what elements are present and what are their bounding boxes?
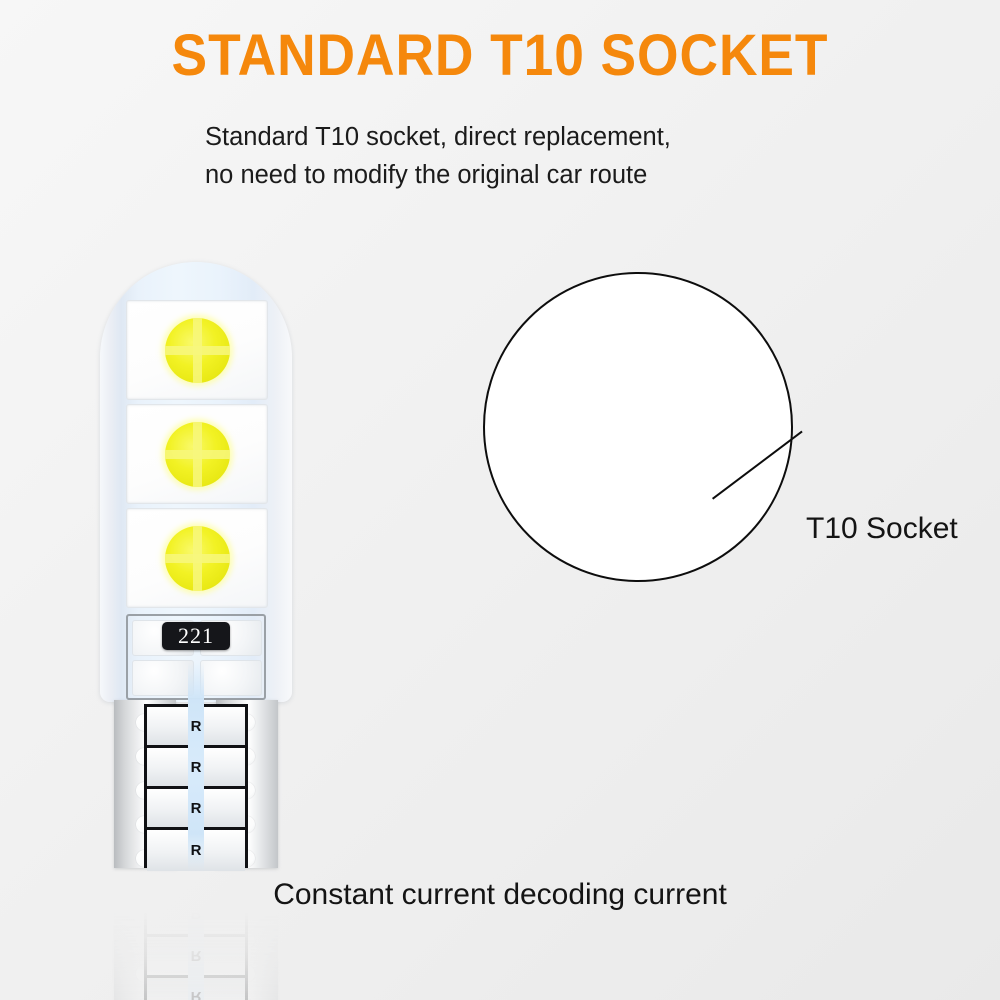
resistor-cell-label: R <box>191 800 202 817</box>
led-lead <box>131 441 137 446</box>
socket-contact-dot <box>136 965 153 982</box>
subtitle-block: Standard T10 socket, direct replacement,… <box>205 118 845 194</box>
magnifier-inset-content <box>485 274 791 580</box>
led-lead-column <box>257 515 263 601</box>
resistor-cell: R <box>147 975 245 1000</box>
magnifier-inset <box>483 272 793 582</box>
led-phosphor <box>165 318 230 383</box>
socket-contact-dot <box>238 965 255 982</box>
resistor-cell-label: R <box>191 989 202 1000</box>
led-lead <box>257 523 263 528</box>
resistor-cell-label: R <box>191 842 202 859</box>
led-lead <box>131 380 137 385</box>
subtitle-line-2: no need to modify the original car route <box>205 156 845 194</box>
resistor-cell-label: R <box>191 759 202 776</box>
vertical-bulb-view: 221RRRR <box>86 262 306 882</box>
led-lead-column <box>131 307 137 393</box>
led-lead <box>257 380 263 385</box>
page-title: STANDARD T10 SOCKET <box>40 22 960 89</box>
led-lead <box>131 337 137 342</box>
led-lead <box>131 315 137 320</box>
resistor-cell-label: R <box>191 948 202 965</box>
led-lead-column <box>257 411 263 497</box>
5050-led-package <box>126 404 268 504</box>
horizontal-bulb-view <box>480 706 875 836</box>
led-lead <box>257 441 263 446</box>
led-lead <box>131 358 137 363</box>
resistor-cell-label: R <box>191 718 202 735</box>
led-lead <box>257 337 263 342</box>
led-lead-column <box>257 307 263 393</box>
led-lead <box>257 545 263 550</box>
led-lead <box>257 484 263 489</box>
resistor-cell: R <box>147 934 245 975</box>
socket-contact-dot <box>136 931 153 948</box>
led-lead <box>131 462 137 467</box>
5050-led-package <box>126 508 268 608</box>
led-lead <box>257 462 263 467</box>
resistor-chip-221: 221 <box>162 622 230 650</box>
driver-component <box>132 660 194 696</box>
led-lead <box>257 566 263 571</box>
socket-contact-dot <box>238 931 255 948</box>
t10-socket-label: T10 Socket <box>806 512 958 546</box>
led-phosphor <box>165 526 230 591</box>
infographic-page: STANDARD T10 SOCKET Standard T10 socket,… <box>0 0 1000 1000</box>
driver-component <box>200 660 262 696</box>
led-lead <box>131 588 137 593</box>
led-lead <box>257 358 263 363</box>
5050-led-package <box>126 300 268 400</box>
subtitle-line-1: Standard T10 socket, direct replacement, <box>205 118 845 156</box>
led-lead <box>257 315 263 320</box>
led-lead <box>131 545 137 550</box>
led-lead <box>131 566 137 571</box>
led-phosphor <box>165 422 230 487</box>
led-lead <box>131 419 137 424</box>
led-lead <box>257 419 263 424</box>
bottom-caption: Constant current decoding current <box>0 878 1000 912</box>
led-lead-column <box>131 411 137 497</box>
led-lead-column <box>131 515 137 601</box>
led-lead <box>131 523 137 528</box>
led-lead <box>131 484 137 489</box>
led-lead <box>257 588 263 593</box>
